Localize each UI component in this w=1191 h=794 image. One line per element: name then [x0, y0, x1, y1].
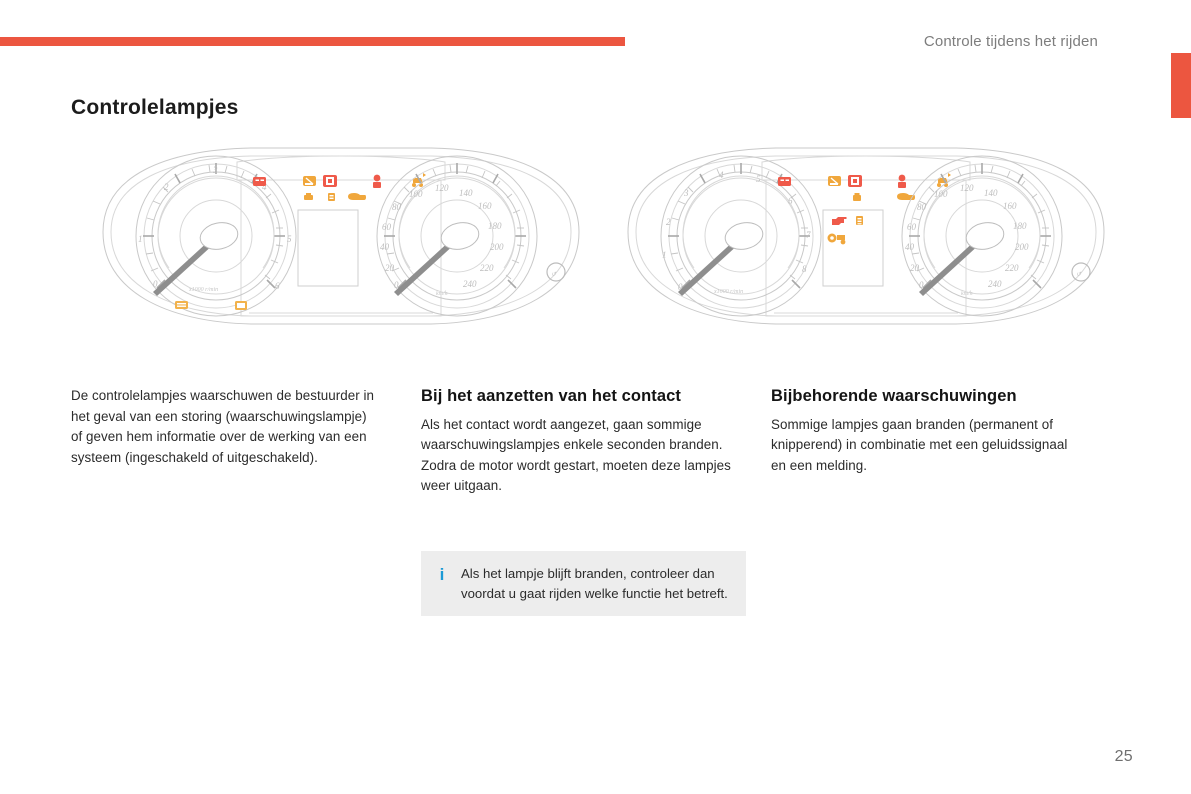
instrument-cluster-diesel: .ln { fill:none; stroke:#c9c9c9; stroke-…: [91, 140, 591, 345]
svg-text:240: 240: [988, 279, 1002, 289]
svg-text:8: 8: [802, 264, 807, 274]
illustration-band: .ln { fill:none; stroke:#c9c9c9; stroke-…: [71, 140, 1100, 345]
fuel-filter-water-icon: [235, 301, 247, 310]
header-accent-rule: [0, 37, 625, 46]
svg-text:x1000 r/min: x1000 r/min: [188, 287, 218, 293]
svg-text:80: 80: [917, 202, 927, 212]
svg-text:180: 180: [488, 221, 502, 231]
svg-text:140: 140: [984, 188, 998, 198]
svg-text:3: 3: [683, 188, 689, 198]
door-open-icon: [323, 175, 337, 187]
svg-text:2: 2: [164, 182, 169, 192]
svg-text:3: 3: [212, 165, 218, 175]
svg-text:160: 160: [478, 201, 492, 211]
running-head: Controle tijdens het rijden: [924, 33, 1098, 50]
column-intro: De controlelampjes waarschuwen de bestuu…: [71, 386, 381, 468]
svg-text:220: 220: [480, 263, 494, 273]
svg-text:220: 220: [1005, 263, 1019, 273]
svg-text:120: 120: [435, 183, 449, 193]
seatbelt-icon: [303, 176, 316, 186]
battery-charge-icon: [253, 177, 266, 186]
seatbelt-icon: [828, 176, 841, 186]
brake-pad-icon: [304, 193, 313, 200]
svg-text:0: 0: [153, 279, 158, 289]
oil-pressure-icon: [328, 193, 335, 201]
info-icon: i: [437, 565, 447, 584]
column-ignition-heading: Bij het aanzetten van het contact: [421, 386, 746, 407]
column-warnings-heading: Bijbehorende waarschuwingen: [771, 386, 1086, 407]
svg-text:160: 160: [1003, 201, 1017, 211]
door-open-icon: [848, 175, 862, 187]
svg-text:6: 6: [275, 281, 280, 291]
instrument-cluster-petrol: .rln { fill:none; stroke:#c9c9c9; stroke…: [616, 140, 1116, 345]
chapter-tab: 1: [1171, 53, 1191, 118]
glow-plug-icon: [175, 301, 188, 309]
svg-text:1: 1: [138, 234, 143, 244]
column-warnings: Bijbehorende waarschuwingen Sommige lamp…: [771, 386, 1086, 476]
column-intro-paragraph: De controlelampjes waarschuwen de bestuu…: [71, 386, 381, 468]
svg-text:2: 2: [666, 217, 671, 227]
column-ignition-paragraph-2: Zodra de motor wordt gestart, moeten dez…: [421, 456, 746, 497]
svg-text:1: 1: [662, 250, 667, 260]
svg-text:100: 100: [934, 189, 948, 199]
engine-oil-icon: [348, 193, 366, 200]
svg-text:200: 200: [490, 242, 504, 252]
svg-text:20: 20: [910, 263, 920, 273]
svg-text:60: 60: [382, 222, 392, 232]
oil-pressure-warning-icon: [856, 216, 863, 225]
svg-text:↺: ↺: [1076, 271, 1082, 278]
svg-text:200: 200: [1015, 242, 1029, 252]
svg-text:60: 60: [907, 222, 917, 232]
svg-text:180: 180: [1013, 221, 1027, 231]
svg-text:240: 240: [463, 279, 477, 289]
column-ignition-paragraph-1: Als het contact wordt aangezet, gaan som…: [421, 415, 746, 456]
brake-pad-icon: [853, 193, 861, 201]
svg-text:100: 100: [409, 189, 423, 199]
airbag-icon: [373, 175, 381, 188]
svg-text:40: 40: [380, 242, 390, 252]
svg-text:140: 140: [459, 188, 473, 198]
svg-text:km/h: km/h: [961, 291, 973, 297]
svg-text:80: 80: [392, 202, 402, 212]
svg-text:km/h: km/h: [436, 291, 448, 297]
page-title: Controlelampjes: [71, 96, 239, 120]
column-warnings-paragraph: Sommige lampjes gaan branden (permanent …: [771, 415, 1086, 477]
battery-charge-icon: [778, 177, 791, 186]
info-callout: i Als het lampje blijft branden, control…: [421, 551, 746, 616]
svg-text:40: 40: [905, 242, 915, 252]
svg-text:20: 20: [385, 263, 395, 273]
svg-text:x1000 r/min: x1000 r/min: [713, 289, 743, 295]
page-number: 25: [1115, 748, 1133, 766]
svg-text:↺: ↺: [551, 271, 557, 278]
svg-text:120: 120: [960, 183, 974, 193]
airbag-icon: [898, 175, 906, 188]
svg-text:5: 5: [287, 234, 292, 244]
column-ignition: Bij het aanzetten van het contact Als he…: [421, 386, 746, 497]
svg-text:7: 7: [806, 230, 811, 240]
chapter-number: 1: [1167, 53, 1191, 118]
info-callout-text: Als het lampje blijft branden, controlee…: [461, 564, 732, 603]
